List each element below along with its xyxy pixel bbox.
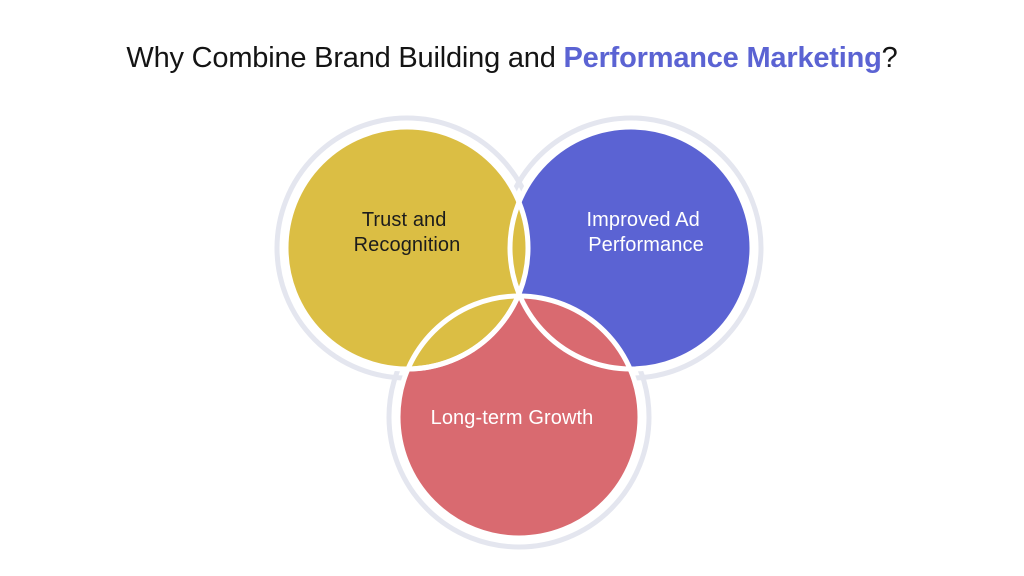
venn-label-blue-line2: Performance — [588, 234, 704, 256]
page-title: Why Combine Brand Building and Performan… — [0, 38, 1024, 78]
venn-label-yellow-line2: Recognition — [354, 234, 461, 256]
venn-label-red: Long-term Growth — [431, 407, 594, 429]
venn-label-yellow-line1: Trust and — [362, 209, 447, 231]
slide-canvas: Why Combine Brand Building and Performan… — [0, 0, 1024, 576]
venn-label-blue-line1: Improved Ad — [586, 209, 699, 231]
page-title-accent: Performance Marketing — [564, 42, 882, 74]
page-title-prefix: Why Combine Brand Building and — [126, 42, 563, 74]
venn-label-red-line1: Long-term Growth — [431, 407, 594, 429]
venn-circle-bodies — [286, 127, 752, 538]
venn-diagram: Trust and Recognition Improved Ad Perfor… — [0, 96, 1024, 566]
page-title-suffix: ? — [882, 42, 898, 74]
